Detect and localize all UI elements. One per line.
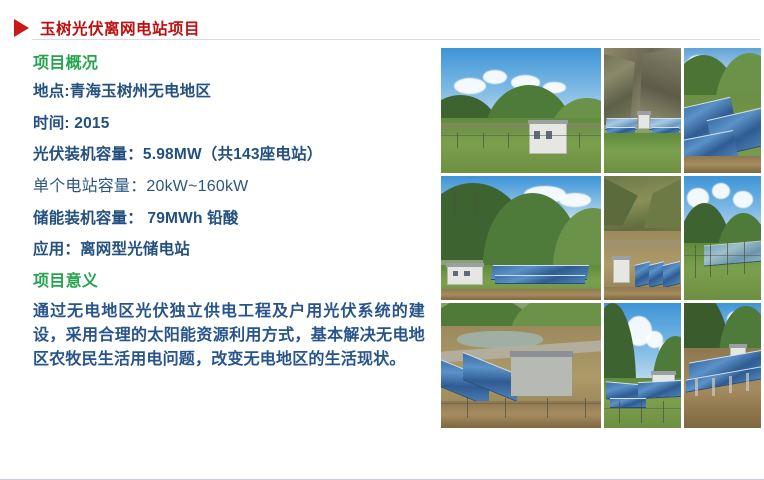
photo-thumbnail-9[interactable] <box>684 303 761 428</box>
header-divider <box>32 39 760 40</box>
section-heading-significance: 项目意义 <box>33 274 433 290</box>
photo-thumbnail-6[interactable] <box>684 176 761 301</box>
spec-location: 地点:青海玉树州无电地区 <box>33 84 433 100</box>
page-title: 玉树光伏离网电站项目 <box>40 17 200 39</box>
photo-thumbnail-3[interactable] <box>684 48 761 173</box>
spec-application: 应用：离网型光储电站 <box>33 242 433 258</box>
photo-thumbnail-8[interactable] <box>604 303 681 428</box>
spec-time: 时间: 2015 <box>33 116 433 132</box>
red-triangle-icon <box>14 19 29 37</box>
spec-storage-capacity: 储能装机容量： 79MWh 铅酸 <box>33 211 433 227</box>
photo-thumbnail-7[interactable] <box>441 303 601 428</box>
content-text-column: 项目概况 地点:青海玉树州无电地区 时间: 2015 光伏装机容量：5.98MW… <box>33 56 433 372</box>
significance-paragraph: 通过无电地区光伏独立供电工程及户用光伏系统的建设，采用合理的太阳能资源利用方式，… <box>33 300 425 373</box>
photo-thumbnail-1[interactable] <box>441 48 601 173</box>
spec-unit-capacity: 单个电站容量：20kW~160kW <box>33 179 433 195</box>
slide-footer-area <box>0 439 764 479</box>
slide-canvas: 玉树光伏离网电站项目 项目概况 地点:青海玉树州无电地区 时间: 2015 光伏… <box>0 0 764 480</box>
photo-thumbnail-2[interactable] <box>604 48 681 173</box>
section-heading-overview: 项目概况 <box>33 56 433 72</box>
photo-thumbnail-4[interactable] <box>441 176 601 301</box>
spec-pv-capacity: 光伏装机容量：5.98MW（共143座电站） <box>33 147 433 163</box>
photo-thumbnail-5[interactable] <box>604 176 681 301</box>
photo-grid <box>441 48 761 428</box>
